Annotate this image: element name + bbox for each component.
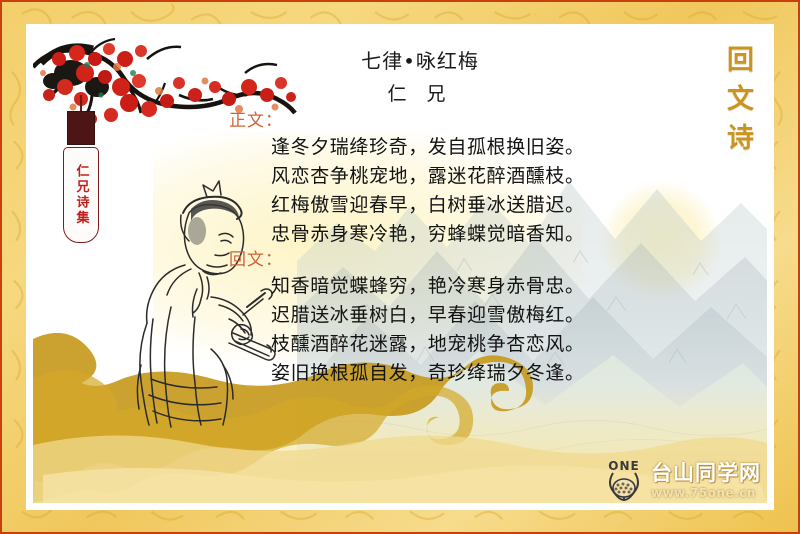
one-logo-icon: ONE	[601, 457, 647, 501]
verse-line: 逢冬夕瑞绛珍奇，发自孤根换旧姿。	[271, 133, 585, 162]
poem-content: 七律•咏红梅 仁 兄 正文： 逢冬夕瑞绛珍奇，发自孤根换旧姿。 风恋杏争桃宠地，…	[33, 31, 767, 503]
verse-list-palindrome: 知香暗觉蝶蜂穷，艳冷寒身赤骨忠。 迟腊送冰垂树白，早春迎雪傲梅红。 枝醺酒醉花迷…	[229, 272, 585, 388]
verse-line: 迟腊送冰垂树白，早春迎雪傲梅红。	[271, 301, 585, 330]
site-watermark: ONE 台山同学网 www.75one.cn	[601, 457, 761, 501]
watermark-site-name: 台山同学网	[651, 463, 761, 484]
poem-section-main: 正文： 逢冬夕瑞绛珍奇，发自孤根换旧姿。 风恋杏争桃宠地，露迷花醉酒醺枝。 红梅…	[229, 106, 585, 249]
verse-line: 枝醺酒醉花迷露，地宠桃争杏恋风。	[271, 330, 585, 359]
section-label-palindrome: 回文：	[229, 245, 585, 270]
verse-line: 知香暗觉蝶蜂穷，艳冷寒身赤骨忠。	[271, 272, 585, 301]
verse-list-main: 逢冬夕瑞绛珍奇，发自孤根换旧姿。 风恋杏争桃宠地，露迷花醉酒醺枝。 红梅傲雪迎春…	[229, 133, 585, 249]
content-panel: 仁兄诗集	[33, 31, 767, 503]
vertical-gold-title: 回文诗	[724, 45, 751, 162]
poster-canvas: 仁兄诗集	[0, 0, 800, 534]
poem-author: 仁 兄	[73, 79, 767, 106]
watermark-url: www.75one.cn	[651, 487, 761, 499]
verse-line: 姿旧换根孤自发，奇珍绛瑞夕冬逢。	[271, 359, 585, 388]
verse-line: 红梅傲雪迎春早，白树垂冰送腊迟。	[271, 191, 585, 220]
poem-section-palindrome: 回文： 知香暗觉蝶蜂穷，艳冷寒身赤骨忠。 迟腊送冰垂树白，早春迎雪傲梅红。 枝醺…	[229, 245, 585, 388]
watermark-texts: 台山同学网 www.75one.cn	[651, 463, 761, 501]
section-label-main: 正文：	[229, 106, 585, 131]
svg-text:ONE: ONE	[608, 459, 639, 473]
verse-line: 风恋杏争桃宠地，露迷花醉酒醺枝。	[271, 162, 585, 191]
poem-title: 七律•咏红梅	[73, 45, 767, 74]
